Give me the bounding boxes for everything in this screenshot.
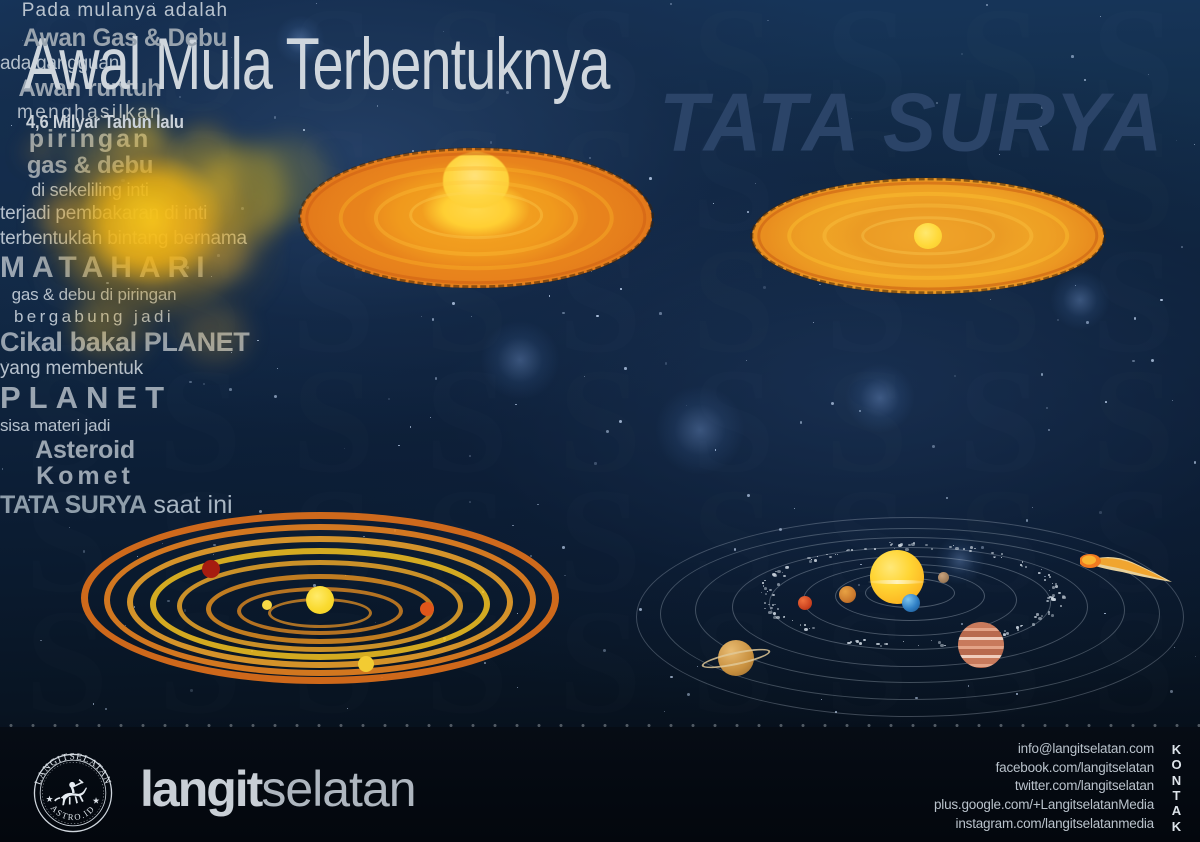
solar-system-diagram [640, 498, 1180, 714]
asteroid [1022, 561, 1023, 562]
asteroid [772, 573, 776, 576]
asteroid [925, 544, 928, 546]
star [932, 445, 935, 448]
kontak-letter: N [1166, 773, 1188, 788]
caption-tata-surya-rest: saat ini [146, 491, 232, 519]
contact-item[interactable]: info@langitselatan.com [934, 740, 1154, 759]
asteroid [1062, 595, 1065, 597]
asteroid [1006, 632, 1009, 634]
star [432, 318, 435, 321]
star [1194, 144, 1195, 145]
page-subtitle: 4,6 Milyar Tahun lalu [26, 112, 184, 133]
asteroid [1032, 623, 1035, 625]
contact-item[interactable]: twitter.com/langitselatan [934, 777, 1154, 796]
caption-stage-8: yang membentuk [0, 358, 1200, 380]
star [986, 4, 989, 7]
planet-jupiter [958, 622, 1004, 668]
seal-centaur-figure [54, 779, 87, 805]
nebula-blob [68, 126, 130, 182]
langitselatan-seal-logo: LANGITSELATAN ★ ASTRO.ID ★ [32, 752, 114, 834]
star [316, 3, 317, 4]
protoplanetary-disk-diagram [80, 516, 560, 694]
star [69, 527, 70, 528]
asteroid [847, 549, 850, 551]
star [562, 312, 565, 315]
star [649, 177, 652, 180]
asteroid [804, 624, 806, 626]
star [763, 286, 766, 289]
protoplanet-orange [420, 602, 434, 616]
star [105, 708, 107, 710]
star-disk-illustration [752, 178, 1104, 294]
asteroid [770, 607, 772, 609]
star [471, 316, 472, 317]
asteroid [903, 641, 904, 642]
star [564, 575, 565, 576]
star [813, 322, 814, 323]
nebula-blob [91, 195, 159, 249]
contact-item[interactable]: plus.google.com/+LangitselatanMedia [934, 796, 1154, 815]
asteroid [1058, 592, 1061, 594]
caption-stage-1-line2: Awan Gas & Debu [4, 24, 247, 53]
asteroid [772, 594, 775, 596]
star [1134, 317, 1136, 319]
caption-stage-10: sisa materi jadi [0, 416, 1200, 436]
asteroid [1001, 557, 1002, 558]
planet-merkurius [938, 572, 949, 583]
kontak-letter: T [1166, 788, 1188, 803]
asteroid [940, 644, 944, 647]
asteroid [955, 547, 958, 550]
asteroid [1041, 615, 1043, 617]
star [549, 295, 551, 297]
asteroid [1034, 616, 1037, 619]
asteroid [963, 548, 965, 550]
protoplanet-dark-red [202, 560, 220, 578]
asteroid [764, 602, 766, 604]
planet-bumi [902, 594, 920, 612]
protoplanet-yellow [358, 656, 374, 672]
label-planet: PLANET [0, 380, 1200, 416]
asteroid [1017, 629, 1019, 630]
asteroid [994, 557, 995, 558]
star [715, 449, 716, 450]
kontak-letter: K [1166, 819, 1188, 834]
star [594, 462, 596, 464]
nebula-blob [185, 193, 275, 255]
star [1160, 299, 1162, 301]
brand-selatan: selatan [261, 761, 415, 817]
protoplanet-small-yellow [262, 600, 272, 610]
asteroid [1001, 553, 1003, 555]
asteroid [777, 570, 780, 573]
asteroid [809, 628, 810, 629]
asteroid [1051, 614, 1054, 617]
asteroid [772, 604, 773, 605]
star [1086, 321, 1089, 324]
star [620, 288, 621, 289]
asteroid [969, 550, 972, 552]
asteroid [777, 608, 778, 609]
asteroid [1036, 613, 1039, 615]
disk-edge [298, 147, 654, 288]
asteroid [777, 583, 780, 586]
disk-edge [750, 177, 1106, 294]
comet [1080, 550, 1176, 584]
asteroid [905, 548, 908, 551]
asteroid [829, 556, 832, 558]
star [40, 640, 41, 641]
kontak-letter: K [1166, 742, 1188, 757]
star [767, 20, 768, 21]
infographic-poster: SSSSSSSSSSSSSSSSSSSSSSSSSSSSSSSSSSSSSSSS… [0, 0, 1200, 842]
proto-sun [306, 586, 334, 614]
star [1176, 140, 1177, 141]
asteroid [768, 604, 769, 605]
solar-orbit [636, 517, 1184, 717]
label-asteroid: Asteroid [0, 436, 170, 465]
asteroid [890, 544, 892, 545]
contact-item[interactable]: facebook.com/langitselatan [934, 759, 1154, 778]
asteroid [837, 554, 839, 555]
asteroid [863, 639, 866, 642]
asteroid [944, 645, 945, 646]
asteroid [763, 585, 764, 586]
star [347, 708, 348, 709]
kontak-letter: A [1166, 803, 1188, 818]
star [469, 455, 471, 457]
seal-text-top: LANGITSELATAN [33, 752, 112, 786]
asteroid [1049, 590, 1050, 591]
star [1100, 16, 1101, 17]
nebula-blob [25, 147, 48, 161]
caption-stage-1: Pada mulanya adalah Awan Gas & Debu [0, 0, 250, 53]
star [1195, 656, 1196, 657]
planet-venus [839, 586, 856, 603]
kontak-letter: O [1166, 757, 1188, 772]
protostar-disk-illustration [300, 148, 652, 288]
nebula-blob [70, 298, 125, 350]
star [93, 703, 95, 705]
asteroid [783, 575, 785, 577]
asteroid [898, 544, 901, 547]
contact-list: info@langitselatan.comfacebook.com/langi… [934, 740, 1154, 833]
asteroid [1003, 633, 1006, 635]
star [670, 3, 671, 4]
nebula-blob [182, 308, 248, 363]
asteroid [775, 571, 777, 573]
star [1194, 461, 1196, 463]
star [990, 299, 991, 300]
asteroid [811, 559, 812, 560]
star [596, 315, 599, 318]
star [344, 448, 345, 449]
label-asteroid-komet: Asteroid Komet [0, 436, 170, 491]
asteroid [764, 580, 765, 581]
svg-text:LANGITSELATAN: LANGITSELATAN [33, 752, 112, 786]
star [562, 546, 565, 549]
asteroid [1016, 626, 1019, 629]
label-komet: Komet [0, 462, 170, 491]
seal-text-bottom: ★ ASTRO.ID ★ [44, 794, 102, 822]
star [452, 302, 455, 305]
brand-wordmark: langitselatan [140, 760, 416, 818]
star [1057, 319, 1059, 321]
caption-tata-surya-bold: TATA SURYA [0, 491, 146, 519]
asteroid [826, 554, 828, 555]
kontak-vertical-label: KONTAK [1166, 742, 1188, 834]
star [659, 312, 662, 315]
planet-mars [798, 596, 812, 610]
asteroid [874, 548, 876, 550]
caption-stage-1-line1: Pada mulanya adalah [0, 0, 250, 22]
asteroid [1060, 605, 1062, 607]
asteroid [773, 612, 777, 615]
star [421, 316, 422, 317]
asteroid [768, 611, 771, 614]
asteroid [1038, 572, 1040, 574]
footer-divider [0, 724, 1200, 727]
asteroid [894, 548, 895, 549]
star [490, 141, 492, 143]
star [755, 183, 756, 184]
contact-item[interactable]: instagram.com/langitselatanmedia [934, 815, 1154, 834]
brand-langit: langit [140, 761, 261, 817]
svg-text:★ ASTRO.ID ★: ★ ASTRO.ID ★ [44, 794, 102, 822]
star [589, 157, 590, 158]
star [603, 649, 606, 652]
big-title-tata-surya: TATA SURYA [659, 74, 1164, 170]
gas-cloud-nebula-illustration [18, 118, 286, 340]
star [303, 129, 305, 131]
star [398, 445, 399, 446]
asteroid [762, 582, 764, 583]
